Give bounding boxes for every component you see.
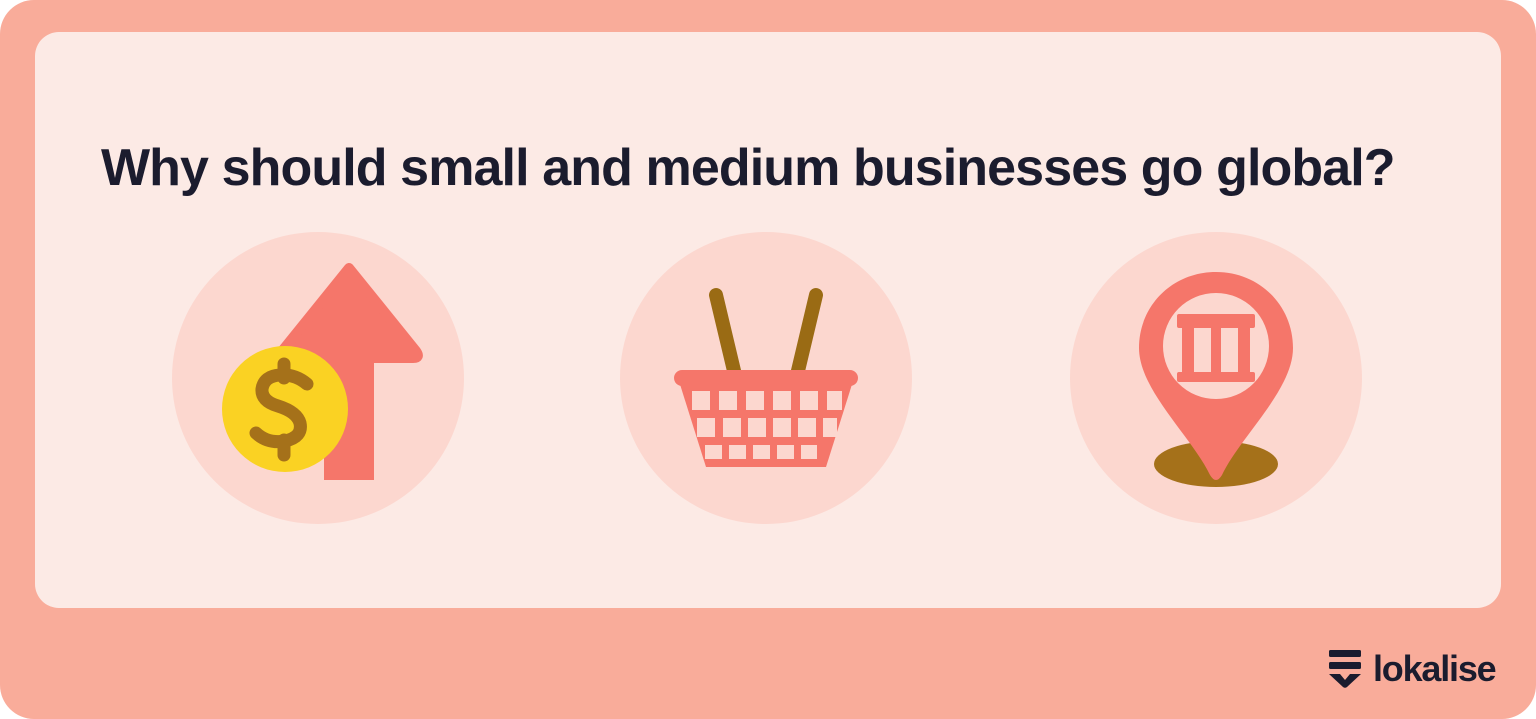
icon-cell-store-location: [1070, 232, 1362, 524]
storefront-glyph: [1177, 314, 1255, 382]
content-card: Why should small and medium businesses g…: [35, 32, 1501, 608]
icon-row: [35, 232, 1501, 588]
basket-rim: [674, 370, 858, 386]
lokalise-logo[interactable]: lokalise: [1328, 648, 1495, 688]
page-title: Why should small and medium businesses g…: [101, 139, 1441, 197]
lokalise-wordmark: lokalise: [1373, 651, 1495, 687]
icon-cell-revenue-growth: [172, 232, 464, 524]
shopping-basket-icon: [620, 232, 912, 524]
icon-cell-shopping-basket: [620, 232, 912, 524]
store-location-pin-icon: [1070, 232, 1362, 524]
outer-panel: Why should small and medium businesses g…: [0, 0, 1536, 719]
revenue-growth-icon: [172, 232, 464, 524]
infographic-canvas: Why should small and medium businesses g…: [0, 0, 1536, 719]
lokalise-chevron-bars-logo: [1328, 648, 1362, 688]
basket-handle: [716, 295, 816, 375]
